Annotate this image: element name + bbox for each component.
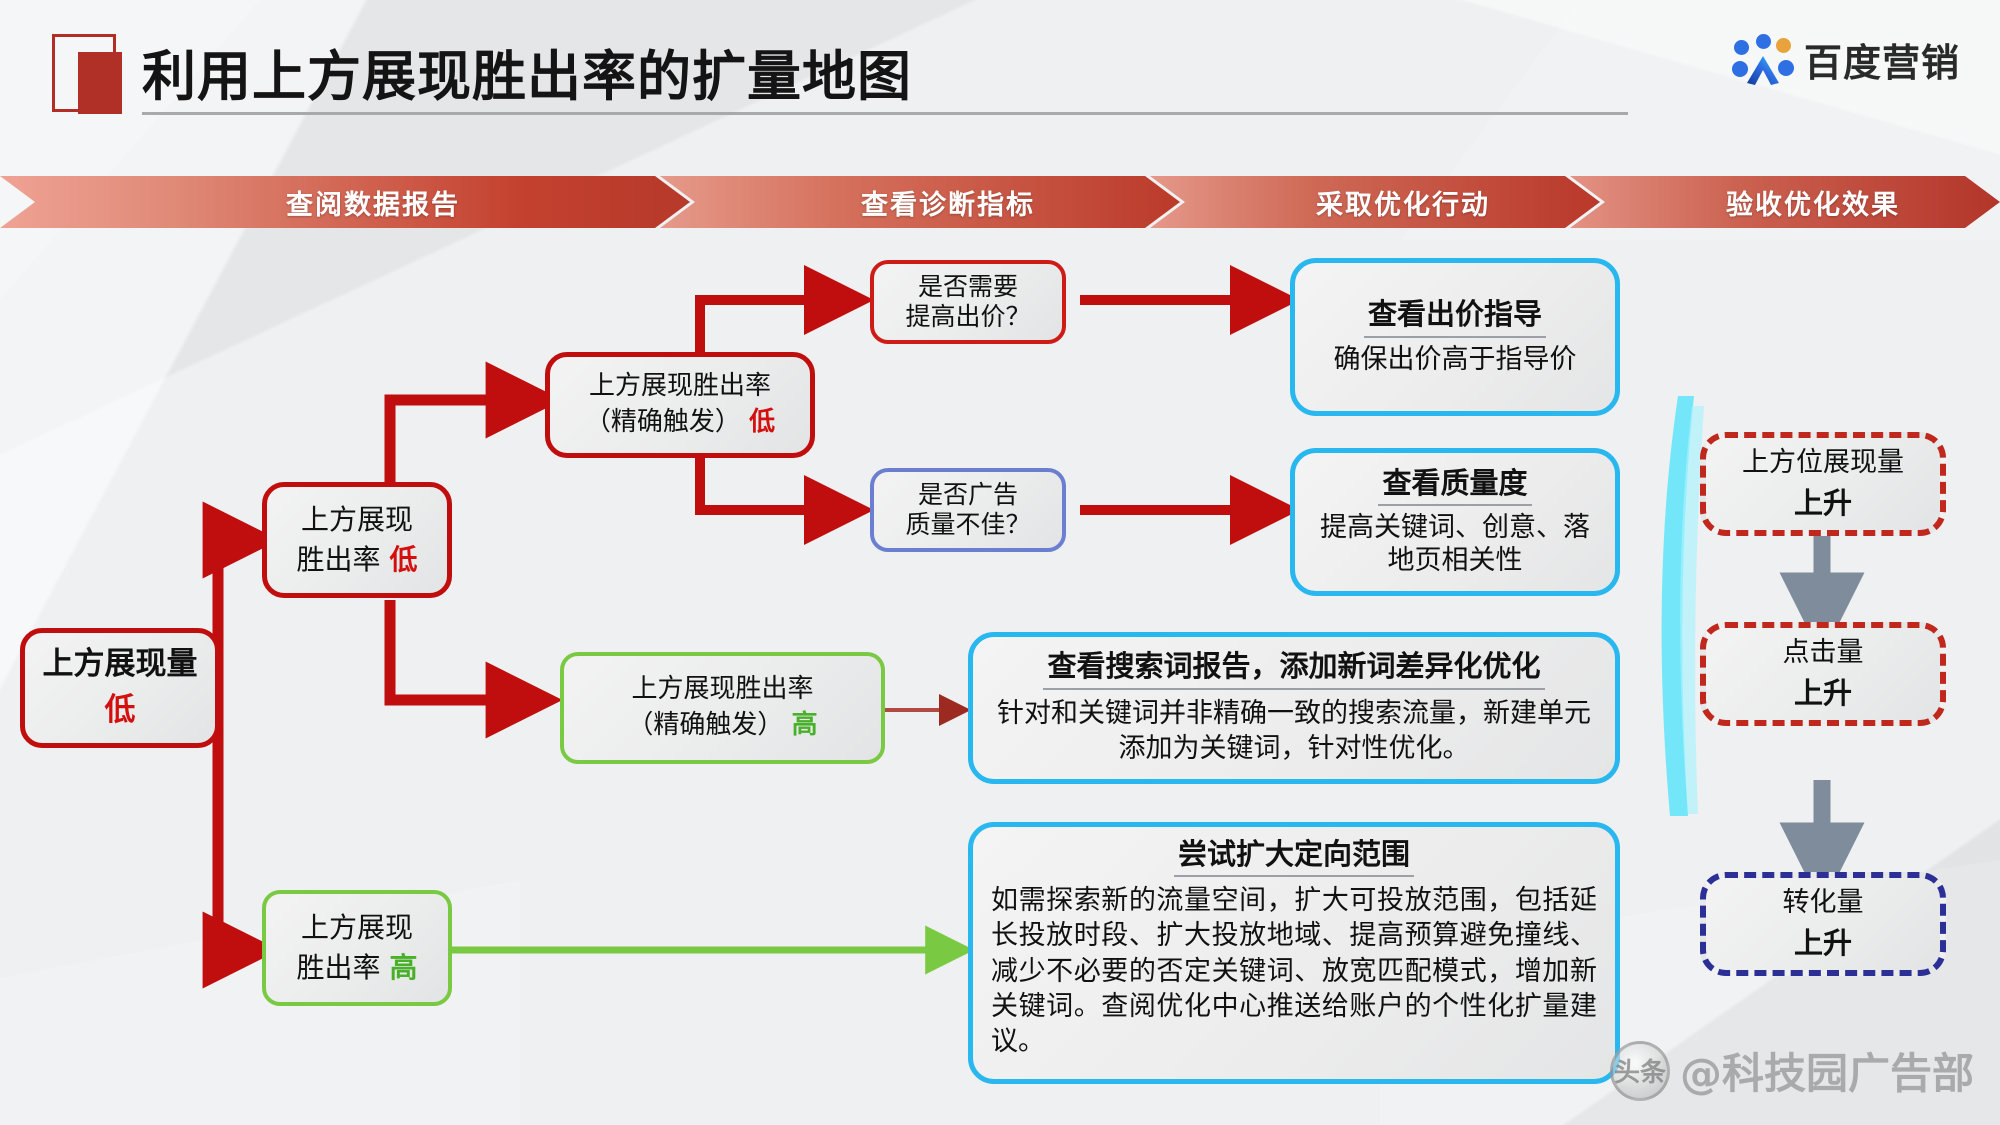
decision-raise-bid[interactable]: 是否需要 提高出价？ (870, 260, 1066, 344)
node-precise-low-line1: 上方展现胜出率 (589, 371, 771, 403)
title-divider (142, 112, 1628, 115)
node-winrate-high[interactable]: 上方展现 胜出率 高 (262, 890, 452, 1006)
card-quality-score[interactable]: 查看质量度 提高关键词、创意、落地页相关性 (1290, 448, 1620, 596)
process-ribbon: 查阅数据报告 查看诊断指标 采取优化行动 验收优化效果 (0, 176, 2000, 228)
card-search-term-body: 针对和关键词并非精确一致的搜索流量，新建单元添加为关键词，针对性优化。 (991, 696, 1597, 767)
node-precise-winrate-low[interactable]: 上方展现胜出率 （精确触发） 低 (545, 352, 815, 458)
decision-raise-bid-line2: 提高出价？ (905, 302, 1030, 333)
result-2-value: 上升 (1794, 926, 1852, 961)
ribbon-step-2-label: 查看诊断指标 (861, 183, 1035, 222)
ribbon-step-3[interactable]: 采取优化行动 (1150, 176, 1600, 228)
decision-ad-quality-line1: 是否广告 (918, 480, 1018, 511)
node-root-impression-low[interactable]: 上方展现量 低 (20, 628, 220, 748)
node-winrate-high-line1: 上方展现 (301, 911, 413, 945)
card-quality-score-body: 提高关键词、创意、落地页相关性 (1311, 512, 1599, 578)
result-box-clicks[interactable]: 点击量 上升 (1700, 622, 1946, 726)
watermark-text: @科技园广告部 (1680, 1040, 1974, 1101)
logo-text: 百度营销 (1804, 32, 1960, 87)
node-precise-low-value: 低 (749, 407, 775, 437)
node-root-label: 上方展现量 (43, 646, 198, 684)
node-winrate-low[interactable]: 上方展现 胜出率 低 (262, 482, 452, 598)
ribbon-step-3-label: 采取优化行动 (1316, 183, 1490, 222)
card-expand-targeting[interactable]: 尝试扩大定向范围 如需探索新的流量空间，扩大可投放范围，包括延长投放时段、扩大投… (968, 822, 1620, 1084)
ribbon-step-1[interactable]: 查阅数据报告 (0, 176, 690, 228)
node-precise-winrate-high[interactable]: 上方展现胜出率 （精确触发） 高 (560, 652, 885, 764)
node-winrate-high-line2: 胜出率 (297, 951, 381, 984)
ribbon-step-4-label: 验收优化效果 (1726, 183, 1900, 222)
ribbon-step-1-label: 查阅数据报告 (286, 183, 460, 222)
result-2-label: 转化量 (1783, 887, 1864, 920)
decision-ad-quality[interactable]: 是否广告 质量不佳？ (870, 468, 1066, 552)
decision-raise-bid-line1: 是否需要 (918, 272, 1018, 303)
result-box-conversions[interactable]: 转化量 上升 (1700, 872, 1946, 976)
result-0-label: 上方位展现量 (1742, 447, 1904, 480)
decision-ad-quality-line2: 质量不佳？ (905, 510, 1030, 541)
card-quality-score-title: 查看质量度 (1378, 466, 1531, 506)
node-winrate-high-value: 高 (389, 951, 417, 984)
brand-logo: 百度营销 (1732, 32, 1960, 87)
watermark: 头条 @科技园广告部 (1610, 1040, 1974, 1101)
result-box-top-impressions[interactable]: 上方位展现量 上升 (1700, 432, 1946, 536)
card-expand-targeting-body: 如需探索新的流量空间，扩大可投放范围，包括延长投放时段、扩大投放地域、提高预算避… (991, 883, 1597, 1058)
baidu-paw-icon (1732, 34, 1794, 86)
slide-canvas: 利用上方展现胜出率的扩量地图 百度营销 查阅数据报告 (0, 0, 2000, 1125)
node-winrate-low-value: 低 (389, 543, 417, 576)
node-winrate-low-line1: 上方展现 (301, 503, 413, 537)
light-streak-decor (1648, 396, 1708, 816)
node-winrate-low-line2: 胜出率 (297, 543, 381, 576)
node-precise-low-line2: （精确触发） (585, 407, 741, 437)
page-title: 利用上方展现胜出率的扩量地图 (142, 32, 912, 111)
ribbon-step-4[interactable]: 验收优化效果 (1570, 176, 2000, 228)
toutiao-circle-icon: 头条 (1610, 1041, 1670, 1101)
result-1-label: 点击量 (1783, 637, 1864, 670)
card-bid-guide-body: 确保出价高于指导价 (1334, 344, 1577, 377)
result-0-value: 上升 (1794, 486, 1852, 521)
node-precise-high-value: 高 (792, 710, 818, 740)
node-precise-high-line2: （精确触发） (627, 710, 783, 740)
node-root-value: 低 (105, 692, 136, 730)
card-search-term-report[interactable]: 查看搜索词报告，添加新词差异化优化 针对和关键词并非精确一致的搜索流量，新建单元… (968, 632, 1620, 784)
node-precise-high-line1: 上方展现胜出率 (631, 674, 813, 706)
ribbon-step-2[interactable]: 查看诊断指标 (660, 176, 1180, 228)
card-bid-guide-title: 查看出价指导 (1364, 297, 1546, 337)
result-1-value: 上升 (1794, 676, 1852, 711)
card-bid-guide[interactable]: 查看出价指导 确保出价高于指导价 (1290, 258, 1620, 416)
decor-square-solid (78, 52, 122, 114)
card-expand-targeting-title: 尝试扩大定向范围 (1174, 837, 1414, 877)
card-search-term-title: 查看搜索词报告，添加新词差异化优化 (1043, 649, 1544, 689)
